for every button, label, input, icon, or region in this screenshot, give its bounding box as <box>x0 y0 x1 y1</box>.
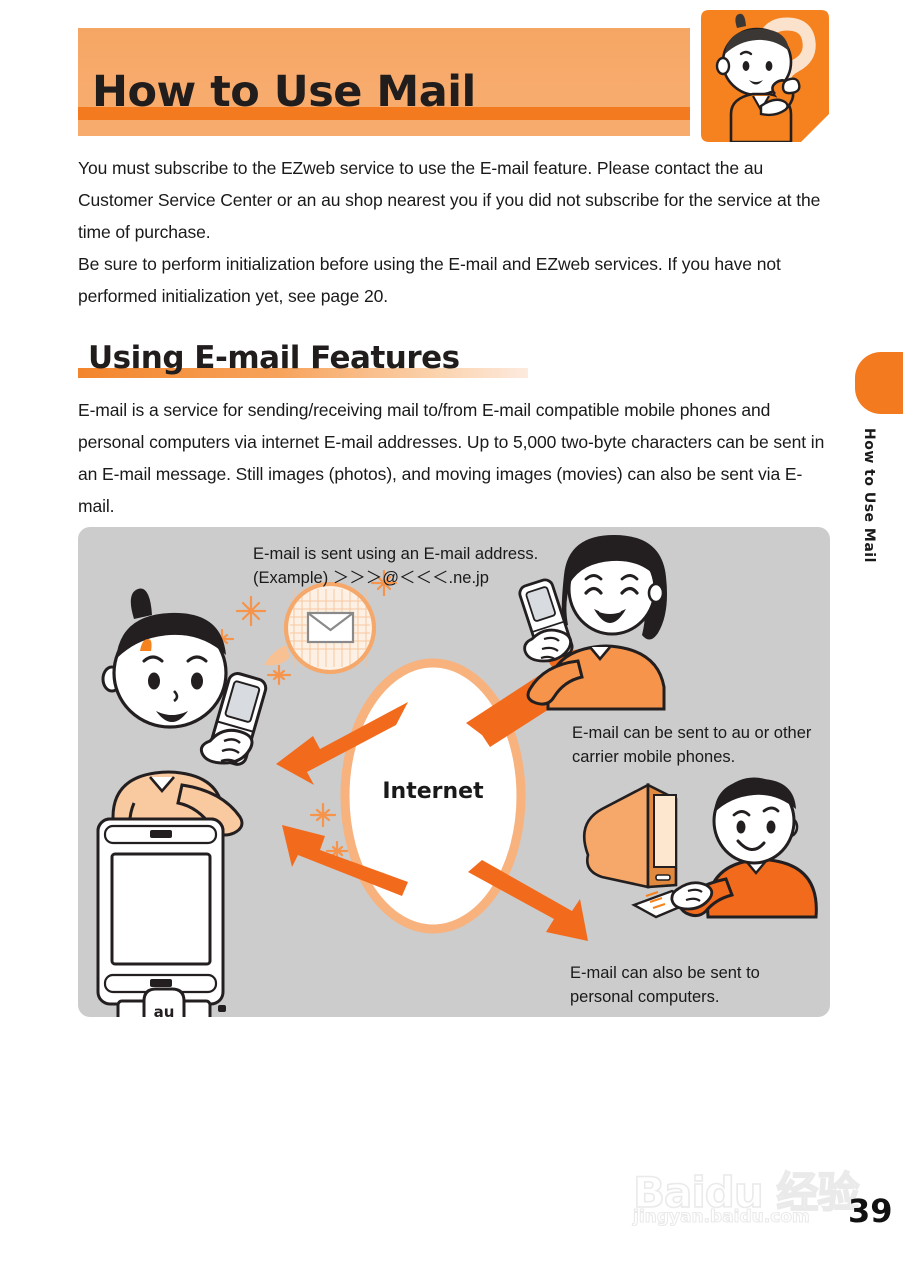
mascot-question-icon <box>701 10 829 142</box>
svg-text:au: au <box>154 1003 175 1017</box>
intro-paragraph-1: You must subscribe to the EZweb service … <box>78 152 830 248</box>
internet-label: Internet <box>333 779 533 804</box>
email-flow-diagram: au <box>78 527 830 1017</box>
section-heading-label: Using E-mail Features <box>88 343 460 374</box>
page-number: 39 <box>848 1192 893 1230</box>
side-tab-marker <box>855 352 903 414</box>
diagram-artwork: au <box>78 527 830 1017</box>
manual-page: How to Use Mail <box>0 0 903 1280</box>
page-title: How to Use Mail <box>92 71 476 114</box>
diagram-caption-mobile: E-mail can be sent to au or other carrie… <box>572 721 812 769</box>
side-tab-label: How to Use Mail <box>855 428 877 563</box>
section-heading: Using E-mail Features <box>78 338 528 378</box>
intro-paragraph-2: Be sure to perform initialization before… <box>78 248 830 312</box>
mail-envelope-bubble <box>264 584 374 672</box>
man-at-computer-illustration <box>584 779 816 917</box>
watermark-line-2: jingyan.baidu.com <box>633 1207 810 1227</box>
flip-phone-illustration: au <box>98 819 226 1017</box>
page-header-banner: How to Use Mail <box>78 28 690 136</box>
section-paragraph: E-mail is a service for sending/receivin… <box>78 394 833 522</box>
diagram-caption-top: E-mail is sent using an E-mail address. … <box>253 542 613 590</box>
diagram-caption-pc: E-mail can also be sent to personal comp… <box>570 961 820 1009</box>
baidu-watermark: Baidu 经验 jingyan.baidu.com <box>633 1155 858 1230</box>
boy-with-phone-illustration <box>103 589 268 855</box>
